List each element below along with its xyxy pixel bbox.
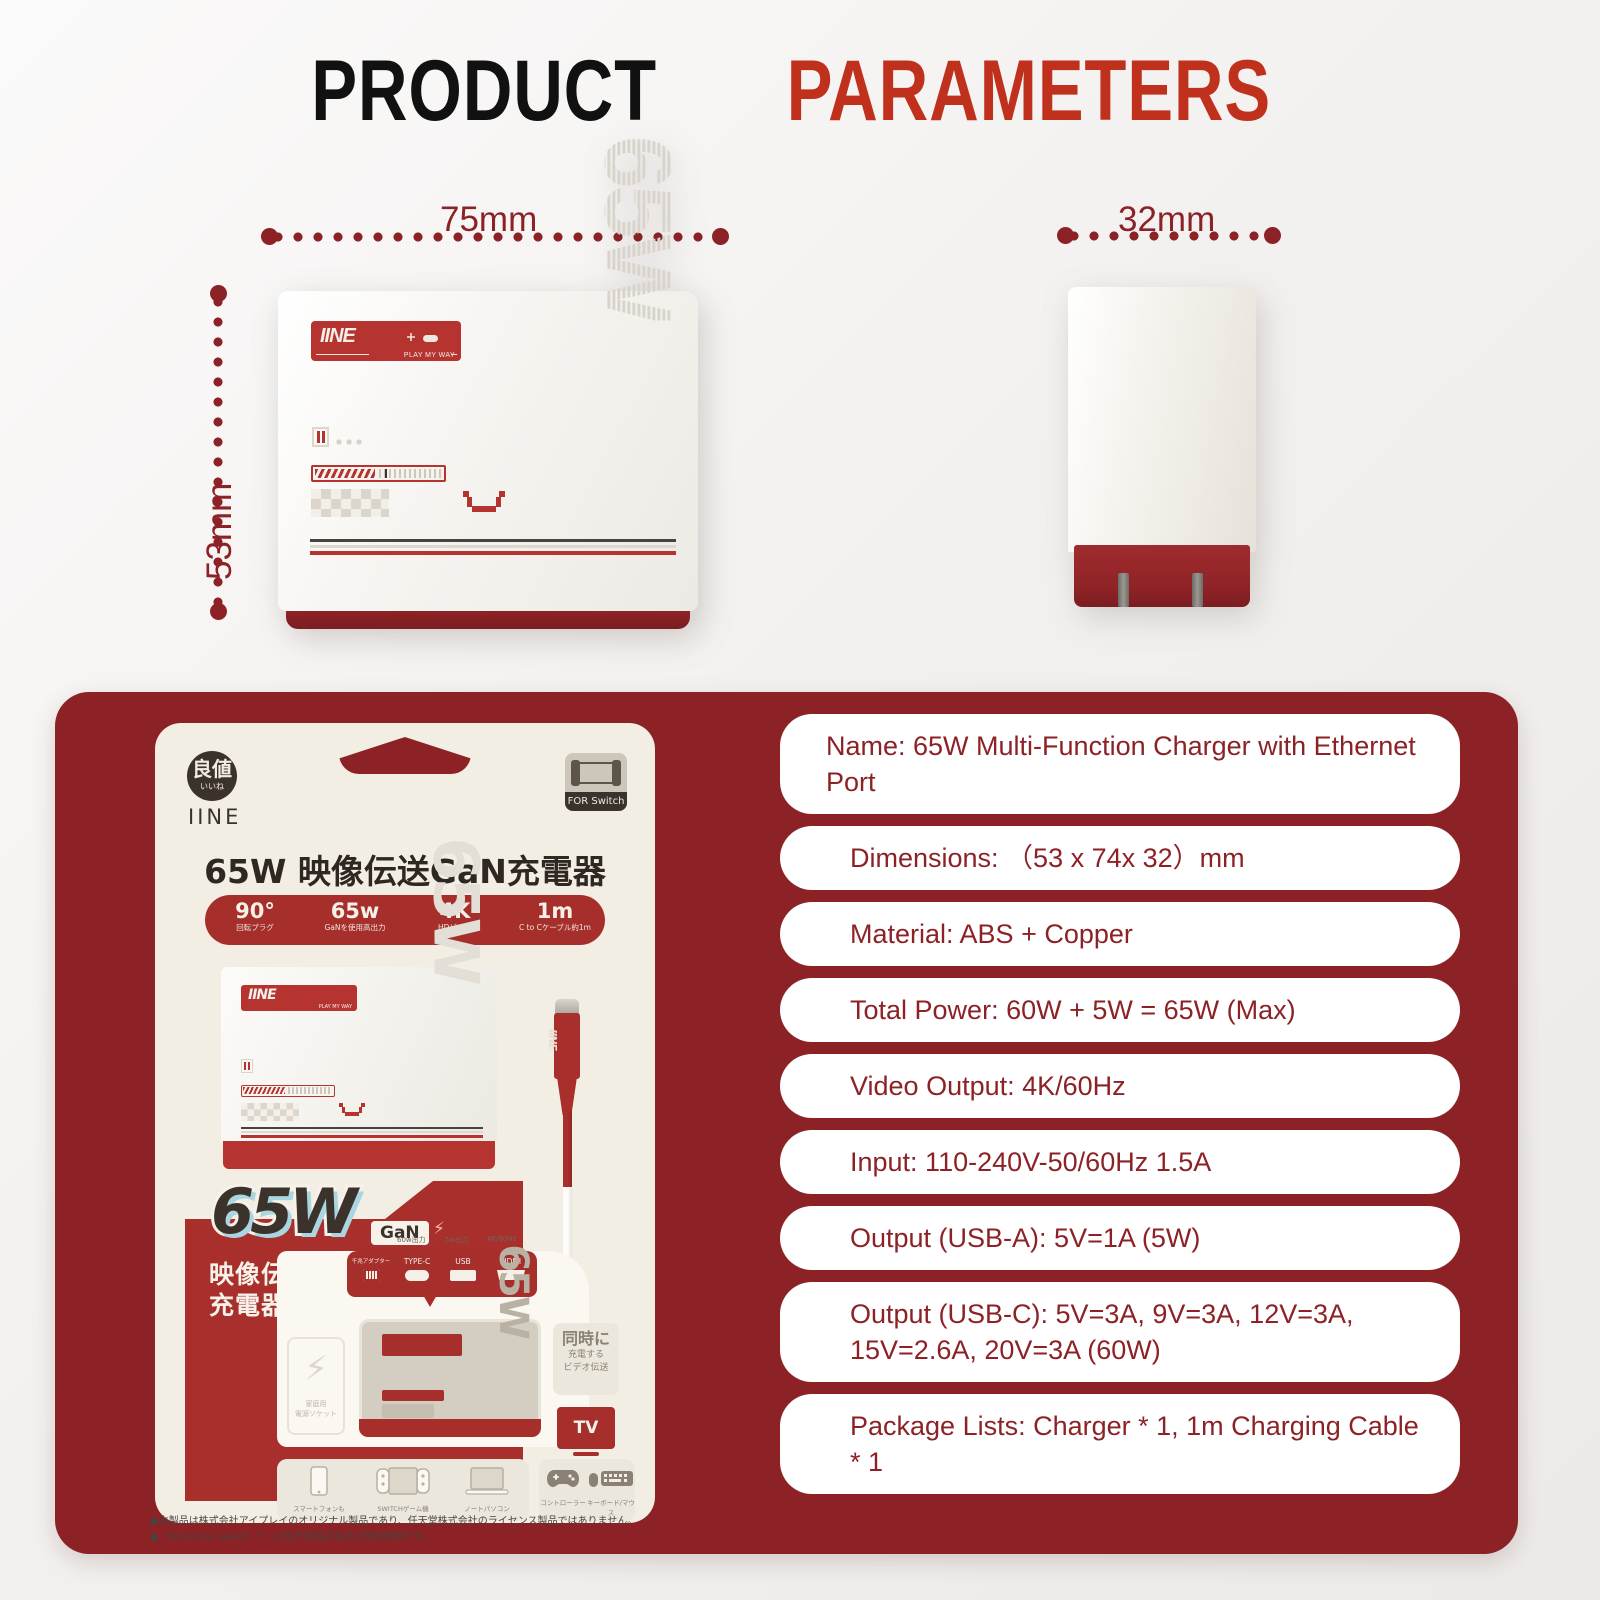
switch-console-icon xyxy=(376,1465,430,1497)
page-title: PRODUCTPARAMETERS xyxy=(0,42,1600,141)
checker-decoration xyxy=(311,489,389,517)
brand-logo-badge: 良値 いいね xyxy=(187,751,237,801)
power-bolt-icon: ⚡ xyxy=(289,1339,343,1399)
charger-side-view xyxy=(1068,287,1256,607)
spec-item-output-usb-c: Output (USB-C): 5V=3A, 9V=3A, 12V=3A, 15… xyxy=(780,1282,1460,1382)
feature-caption: GaNを使用高出力 xyxy=(305,922,405,933)
port-label-ethernet: 千兆アダプター xyxy=(349,1257,393,1265)
specs-panel: 良値 いいね IINE FOR Switch 65W 映像伝送GaN充電器 90… xyxy=(55,692,1518,1554)
dimension-line-height xyxy=(213,292,223,610)
iine-logo-text: IINE xyxy=(320,325,355,348)
spec-item-video-output: Video Output: 4K/60Hz xyxy=(780,1054,1460,1118)
pause-icon xyxy=(312,427,329,447)
port-spec-hdmi: 4K/60Hz xyxy=(487,1235,516,1243)
feature-item: 90° 回転プラグ xyxy=(205,895,305,945)
port-spec-usb: 5w出力 xyxy=(445,1235,469,1245)
device-smartphone: スマートフォンも xyxy=(277,1459,361,1521)
spec-item-total-power: Total Power: 60W + 5W = 65W (Max) xyxy=(780,978,1460,1042)
dimension-cap-width-right xyxy=(712,228,729,245)
brand-logo-jp: 良値 xyxy=(187,751,237,782)
page-title-product: PRODUCT xyxy=(311,42,657,141)
tagline-rule-left xyxy=(316,354,369,355)
device-switch: SWITCHゲーム機 xyxy=(361,1459,445,1521)
feature-item: 65w GaNを使用高出力 xyxy=(305,895,405,945)
charger-side-body xyxy=(1068,287,1256,552)
package-charger-watermark: 65W xyxy=(420,837,493,983)
gamepad-icon xyxy=(546,1465,580,1491)
page-title-parameters: PARAMETERS xyxy=(787,42,1272,141)
feature-caption: C to Cケーブル約1m xyxy=(505,922,605,933)
stripe-decoration xyxy=(310,539,676,558)
mini-smile-icon xyxy=(339,1103,365,1117)
port-typec: TYPE-C xyxy=(395,1257,439,1281)
charger-diagram-watermark: 65W xyxy=(490,1244,536,1338)
brand-logo-kana: いいね xyxy=(187,782,237,791)
wall-socket-callout: ⚡ 家庭用 電源ソケット xyxy=(287,1337,345,1435)
feature-value: 1m xyxy=(505,900,605,922)
banner-jp-line2: 充電器 xyxy=(209,1291,287,1320)
mini-stripe-decoration xyxy=(241,1127,483,1140)
port-ethernet: 千兆アダプター xyxy=(349,1257,393,1281)
charger-side-base xyxy=(1074,545,1250,607)
package-charger-brand: IINE xyxy=(248,987,276,1003)
charger-front-logo-plate: IINE PLAY MY WAY xyxy=(311,321,461,361)
device-keyboard-mouse: キーボード/マウス xyxy=(587,1459,635,1521)
ethernet-port-icon xyxy=(363,1269,380,1281)
spec-item-output-usb-a: Output (USB-A): 5V=1A (5W) xyxy=(780,1206,1460,1270)
dimension-cap-width-left xyxy=(261,228,278,245)
feature-value: 65w xyxy=(305,900,405,922)
disclaimer-line-1: ●本製品は株式会社アイプレイのオリジナル製品であり、任天堂株式会社のライセンス製… xyxy=(150,1514,850,1530)
feature-strip: 90° 回転プラグ 65w GaNを使用高出力 4K HDビデオ 1m C to… xyxy=(205,895,605,945)
disclaimer-line-2: ●「Nintendo Switch ™」は任天堂株式会社の登録商標です。 xyxy=(150,1530,850,1546)
hang-hole-tab xyxy=(339,737,471,774)
sync-title: 同時に xyxy=(553,1329,619,1349)
legal-disclaimer: ●本製品は株式会社アイプレイのオリジナル製品であり、任天堂株式会社のライセンス製… xyxy=(150,1514,850,1546)
for-switch-badge: FOR Switch xyxy=(565,753,627,811)
smartphone-icon xyxy=(307,1465,331,1497)
spec-item-name: Name: 65W Multi-Function Charger with Et… xyxy=(780,714,1460,814)
package-card: 良値 いいね IINE FOR Switch 65W 映像伝送GaN充電器 90… xyxy=(155,723,655,1523)
spec-item-material: Material: ABS + Copper xyxy=(780,902,1460,966)
dimension-line-depth xyxy=(1064,231,1276,241)
sync-line1: 充電する xyxy=(553,1349,619,1362)
tagline-rule-right xyxy=(451,354,457,355)
dimension-cap-height-bottom xyxy=(210,603,227,620)
smile-face-icon xyxy=(463,491,505,513)
plug-prong-right xyxy=(1192,573,1203,607)
compatible-devices-row: スマートフォンも SWITCHゲーム機 ノートパソコン xyxy=(277,1459,529,1521)
charger-front-view: 65W IINE PLAY MY WAY xyxy=(278,291,698,611)
progress-bar-decoration xyxy=(311,465,446,482)
charger-front-body: 65W IINE PLAY MY WAY xyxy=(278,291,698,611)
usb-a-port-icon xyxy=(450,1270,476,1281)
feature-caption: 回転プラグ xyxy=(205,922,305,933)
for-switch-label: FOR Switch xyxy=(565,792,627,811)
switch-screen-icon xyxy=(578,762,614,784)
mini-pause-icon xyxy=(241,1059,253,1073)
tv-stand-icon xyxy=(573,1452,599,1456)
feature-item: 1m C to Cケーブル約1m xyxy=(505,895,605,945)
charger-front-watermark: 65W xyxy=(582,136,692,321)
accessory-devices-row: コントローラー キーボード/マウス xyxy=(539,1459,635,1521)
package-title: 65W 映像伝送GaN充電器 xyxy=(155,845,655,893)
dots-decoration xyxy=(334,439,364,445)
feature-value: 90° xyxy=(205,900,305,922)
cable-connector: IINE xyxy=(554,1013,580,1079)
package-charger-logo: IINE PLAY MY WAY xyxy=(241,985,357,1011)
tv-icon: TV xyxy=(557,1407,615,1449)
simultaneous-callout: 同時に 充電する ビデオ伝送 xyxy=(553,1323,619,1395)
port-label-typec: TYPE-C xyxy=(395,1257,439,1266)
socket-caption: 家庭用 電源ソケット xyxy=(289,1399,343,1419)
package-charger-tagline: PLAY MY WAY xyxy=(319,1004,352,1010)
mini-progress-decoration xyxy=(241,1085,335,1097)
plus-icon xyxy=(407,333,415,341)
package-charger-illustration: 65W IINE PLAY MY WAY xyxy=(221,967,497,1169)
ports-pointer-arrow xyxy=(423,1295,437,1307)
spec-pill-list: Name: 65W Multi-Function Charger with Et… xyxy=(780,714,1460,1506)
laptop-icon xyxy=(465,1465,509,1497)
port-label-usb: USB xyxy=(441,1257,485,1266)
usb-c-port-icon xyxy=(405,1270,429,1281)
device-gamepad: コントローラー xyxy=(539,1459,587,1521)
port-spec-typec: 60w出力 xyxy=(397,1235,426,1245)
plug-prong-left xyxy=(1118,573,1129,607)
spec-item-package-lists: Package Lists: Charger * 1, 1m Charging … xyxy=(780,1394,1460,1494)
dimension-cap-height-top xyxy=(210,285,227,302)
spec-item-input: Input: 110-240V-50/60Hz 1.5A xyxy=(780,1130,1460,1194)
pill-icon xyxy=(423,335,438,342)
dimension-cap-depth-right xyxy=(1264,227,1281,244)
device-laptop: ノートパソコン xyxy=(445,1459,529,1521)
spec-item-dimensions: Dimensions: （53 x 74x 32）mm xyxy=(780,826,1460,890)
cable-neck xyxy=(557,1077,577,1115)
keyboard-mouse-icon xyxy=(589,1465,633,1491)
sync-line2: ビデオ伝送 xyxy=(553,1362,619,1375)
dimension-cap-depth-left xyxy=(1057,227,1074,244)
cable-brand-text: IINE xyxy=(546,1029,559,1050)
port-usb: USB xyxy=(441,1257,485,1281)
brand-name-text: IINE xyxy=(188,805,241,829)
mini-checker-decoration xyxy=(241,1103,299,1121)
tagline-text: PLAY MY WAY xyxy=(404,352,455,359)
charger-diagram: 65W xyxy=(359,1319,541,1437)
banner-power-text: 65W xyxy=(211,1175,354,1248)
